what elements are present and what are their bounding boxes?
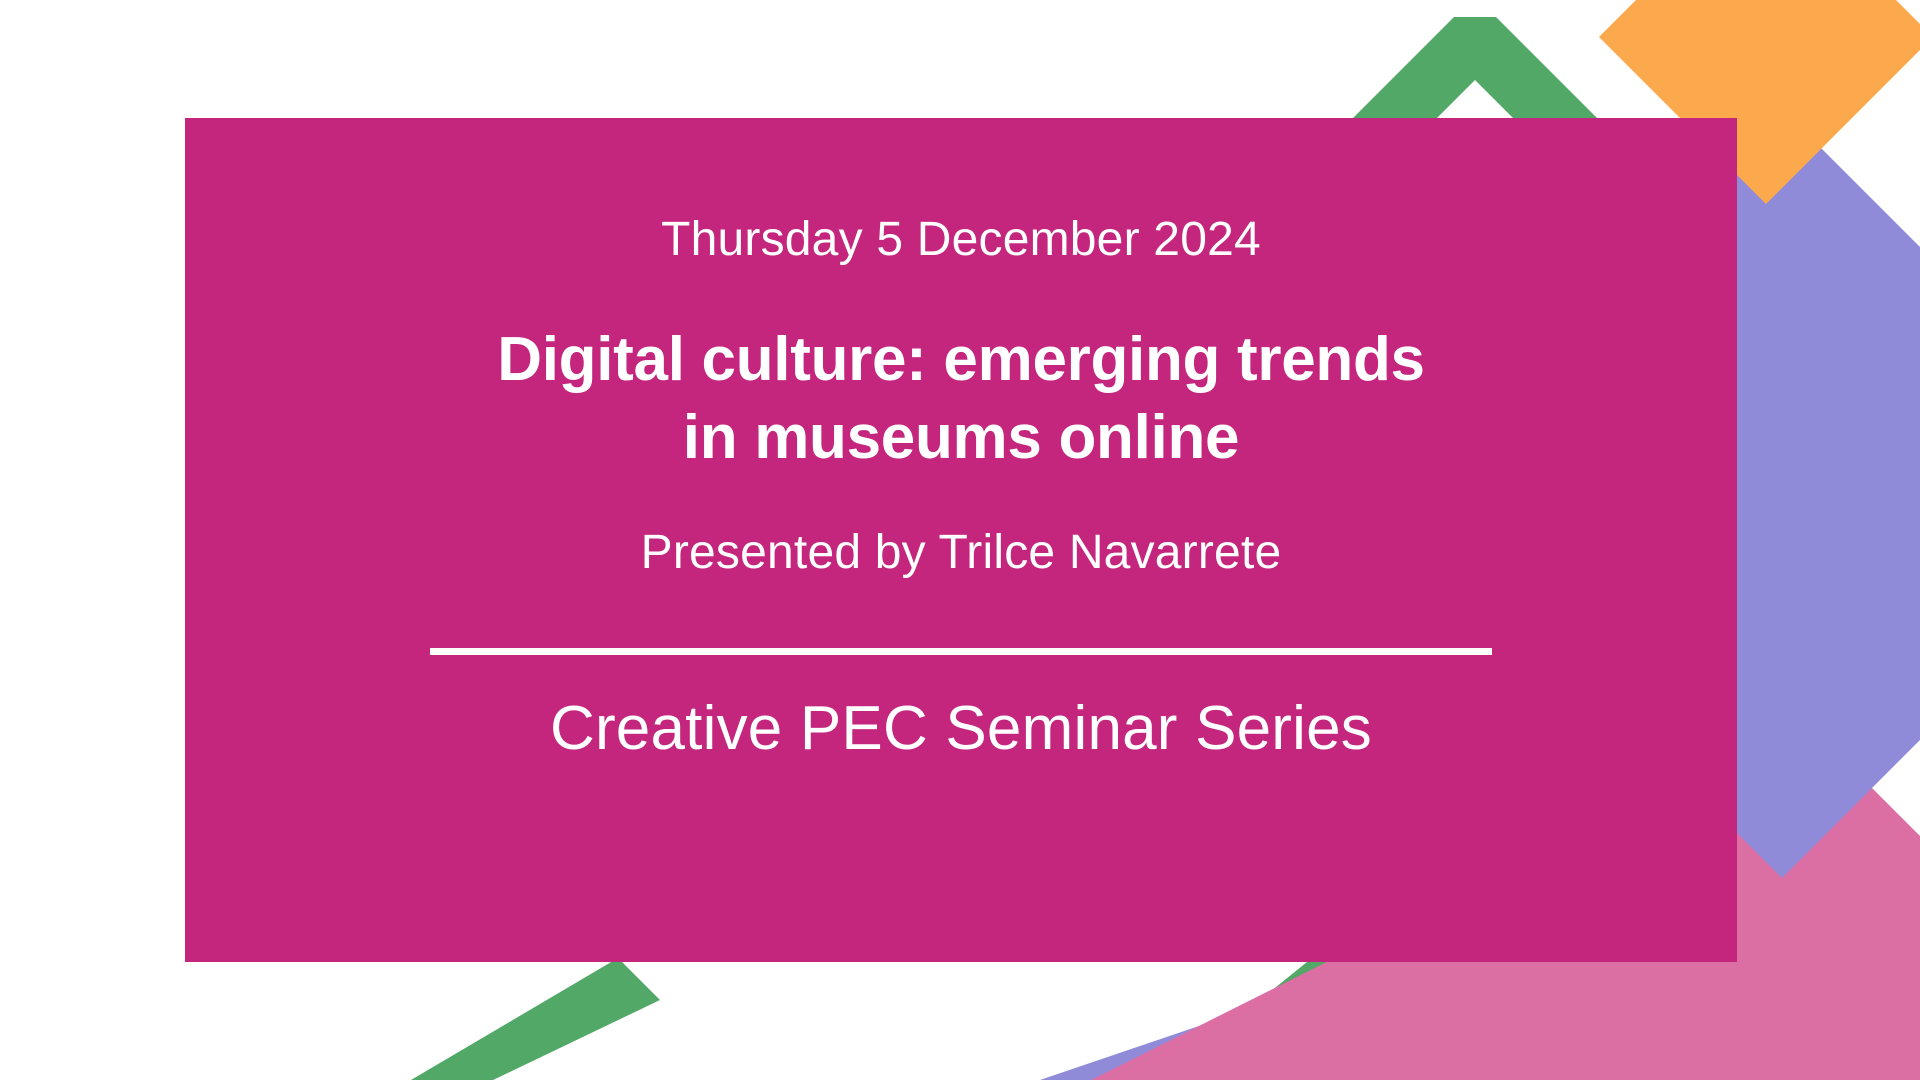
page-title-line-1: Digital culture: emerging trends [497,325,1424,394]
slide-canvas: Thursday 5 December 2024 Digital culture… [0,0,1920,1080]
page-title: Digital culture: emerging trends in muse… [497,321,1424,477]
event-presenter: Presented by Trilce Navarrete [641,527,1282,580]
green-chevron-bottom-left-icon [411,958,660,1080]
seminar-card: Thursday 5 December 2024 Digital culture… [185,118,1737,962]
page-title-line-2: in museums online [683,403,1239,472]
series-name: Creative PEC Seminar Series [550,695,1372,763]
event-date: Thursday 5 December 2024 [661,214,1261,267]
seminar-card-content: Thursday 5 December 2024 Digital culture… [185,214,1737,763]
divider [430,648,1492,655]
